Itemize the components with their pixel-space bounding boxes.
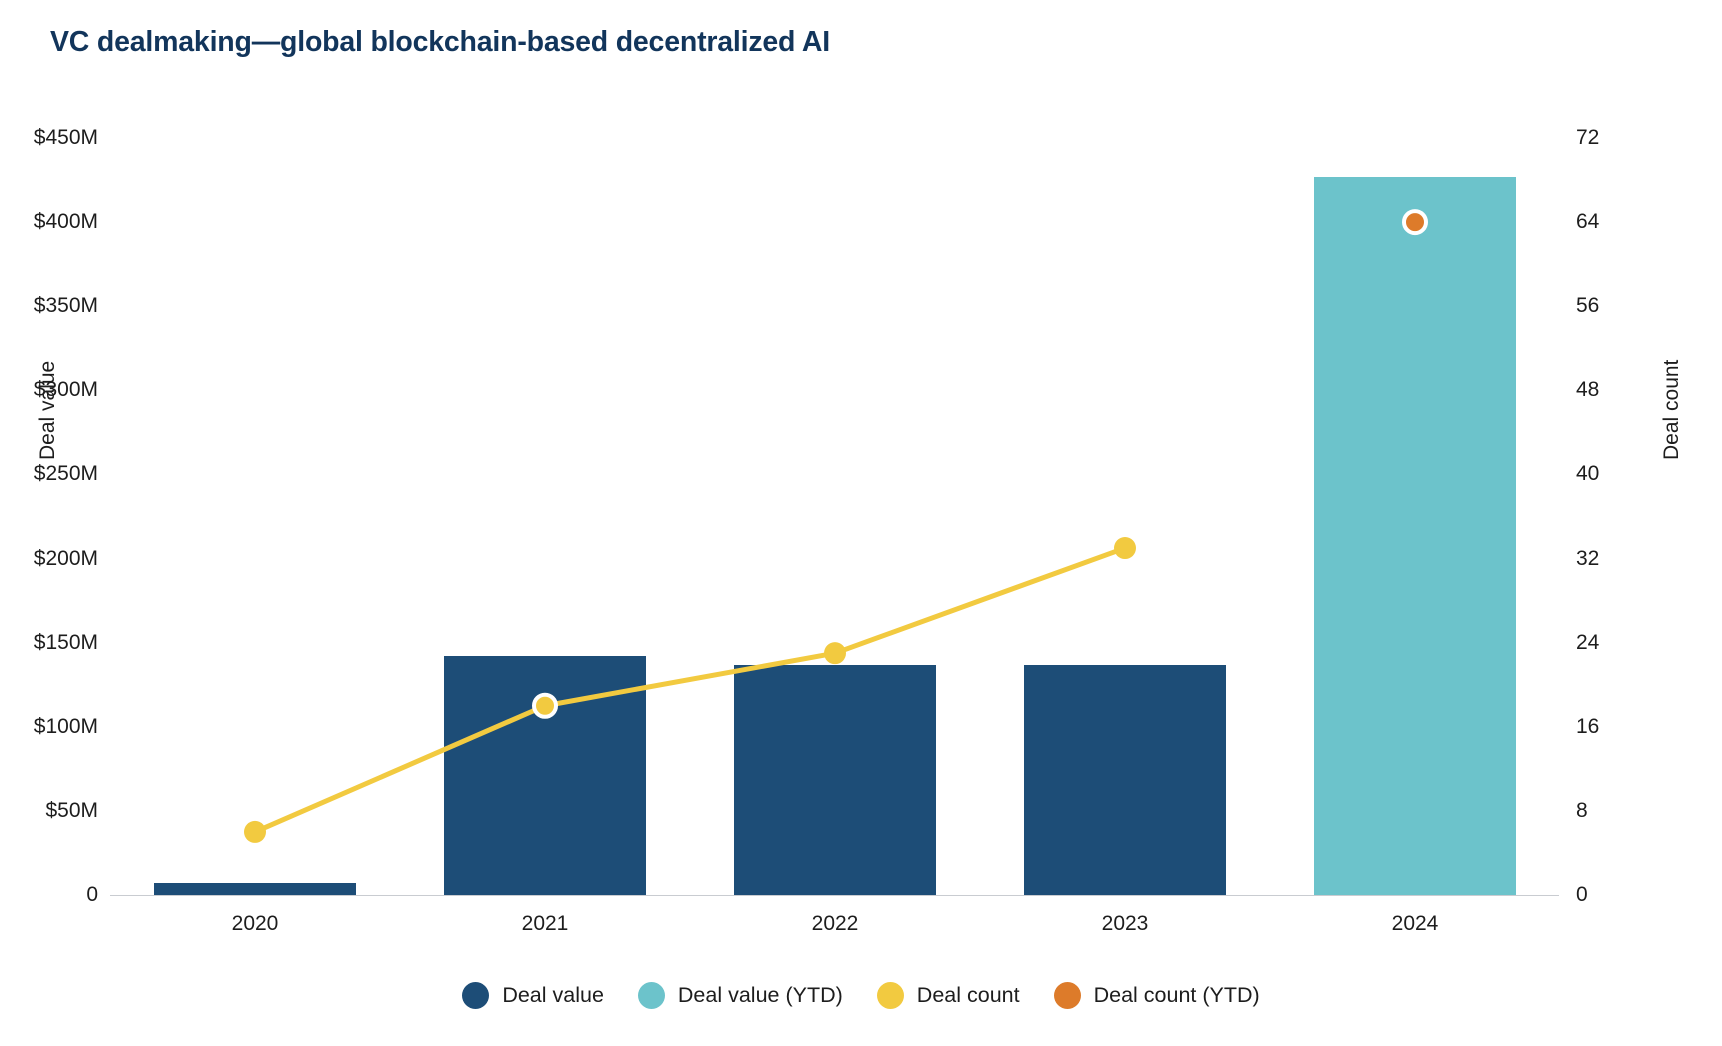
y-axis-left-tick: $400M: [34, 210, 98, 234]
y-axis-right-tick: 40: [1576, 462, 1599, 486]
circle-swatch-icon: [638, 982, 665, 1009]
y-axis-right-tick: 56: [1576, 294, 1599, 318]
y-axis-right-tick: 24: [1576, 631, 1599, 655]
y-axis-right-tick: 16: [1576, 715, 1599, 739]
x-axis-line: [110, 895, 1559, 896]
y-axis-left-tick: $150M: [34, 631, 98, 655]
legend-item-label: Deal count: [917, 983, 1020, 1008]
x-axis-tick: 2021: [400, 912, 690, 936]
circle-swatch-icon: [462, 982, 489, 1009]
legend-item-label: Deal value (YTD): [678, 983, 843, 1008]
page-title: VC dealmaking—global blockchain-based de…: [50, 26, 830, 59]
legend-item[interactable]: Deal value: [462, 982, 604, 1009]
deal-count-point: [534, 695, 556, 717]
legend-item-label: Deal count (YTD): [1094, 983, 1260, 1008]
legend-item[interactable]: Deal value (YTD): [638, 982, 843, 1009]
y-axis-right-tick: 8: [1576, 799, 1588, 823]
y-axis-right-tick: 48: [1576, 378, 1599, 402]
x-axis-tick: 2023: [980, 912, 1270, 936]
x-axis-tick: 2022: [690, 912, 980, 936]
x-axis-tick: 2020: [110, 912, 400, 936]
legend-item[interactable]: Deal count: [877, 982, 1020, 1009]
y-axis-left-tick: $250M: [34, 462, 98, 486]
y-axis-left-tick: $350M: [34, 294, 98, 318]
legend-item-label: Deal value: [502, 983, 604, 1008]
legend-item[interactable]: Deal count (YTD): [1054, 982, 1260, 1009]
deal-count-point: [824, 642, 846, 664]
y-axis-left-tick: $200M: [34, 547, 98, 571]
deal-count-ytd-point: [1404, 211, 1426, 233]
circle-swatch-icon: [1054, 982, 1081, 1009]
y-axis-right-ticks: 081624324048566472: [1576, 0, 1666, 1046]
line-series-layer: [110, 130, 1560, 895]
y-axis-left-ticks: 0$50M$100M$150M$200M$250M$300M$350M$400M…: [0, 0, 98, 1046]
x-axis-labels: 20202021202220232024: [110, 912, 1560, 944]
deal-count-line: [255, 548, 1125, 832]
y-axis-left-tick: $300M: [34, 378, 98, 402]
legend: Deal valueDeal value (YTD)Deal countDeal…: [0, 982, 1722, 1009]
y-axis-right-tick: 32: [1576, 547, 1599, 571]
deal-count-point: [244, 821, 266, 843]
chart-page: VC dealmaking—global blockchain-based de…: [0, 0, 1722, 1046]
deal-count-point: [1114, 537, 1136, 559]
y-axis-right-tick: 64: [1576, 210, 1599, 234]
y-axis-right-tick: 72: [1576, 126, 1599, 150]
y-axis-right-tick: 0: [1576, 883, 1588, 907]
circle-swatch-icon: [877, 982, 904, 1009]
y-axis-left-tick: $50M: [45, 799, 98, 823]
y-axis-left-tick: $450M: [34, 126, 98, 150]
y-axis-left-tick: 0: [86, 883, 98, 907]
y-axis-left-tick: $100M: [34, 715, 98, 739]
x-axis-tick: 2024: [1270, 912, 1560, 936]
